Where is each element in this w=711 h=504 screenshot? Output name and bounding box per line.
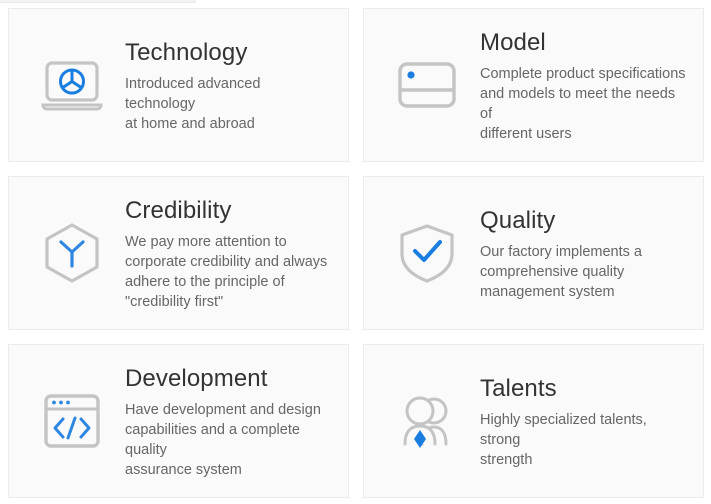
card-title: Technology bbox=[125, 38, 332, 68]
feature-card-quality[interactable]: Quality Our factory implements a compreh… bbox=[363, 176, 704, 330]
card-text-block: Talents Highly specialized talents, stro… bbox=[480, 372, 687, 470]
card-text-block: Quality Our factory implements a compreh… bbox=[480, 204, 687, 302]
card-description: Highly specialized talents, strong stren… bbox=[480, 410, 687, 470]
feature-card-development[interactable]: Development Have development and design … bbox=[8, 344, 349, 498]
hexagon-credibility-icon bbox=[31, 212, 113, 294]
card-text-block: Development Have development and design … bbox=[125, 362, 332, 480]
card-text-block: Model Complete product specifications an… bbox=[480, 26, 687, 144]
shield-check-quality-icon bbox=[386, 212, 468, 294]
card-title: Development bbox=[125, 364, 332, 394]
card-title: Quality bbox=[480, 206, 687, 236]
code-window-development-icon bbox=[31, 380, 113, 462]
card-description: We pay more attention to corporate credi… bbox=[125, 232, 332, 312]
feature-cards-page: Technology Introduced advanced technolog… bbox=[0, 0, 711, 504]
product-model-icon bbox=[386, 44, 468, 126]
card-description: Our factory implements a comprehensive q… bbox=[480, 242, 687, 302]
laptop-technology-icon bbox=[31, 44, 113, 126]
feature-card-talents[interactable]: Talents Highly specialized talents, stro… bbox=[363, 344, 704, 498]
feature-card-credibility[interactable]: Credibility We pay more attention to cor… bbox=[8, 176, 349, 330]
card-title: Model bbox=[480, 28, 687, 58]
people-talents-icon bbox=[386, 380, 468, 462]
card-description: Complete product specifications and mode… bbox=[480, 64, 687, 144]
card-text-block: Credibility We pay more attention to cor… bbox=[125, 194, 332, 312]
card-text-block: Technology Introduced advanced technolog… bbox=[125, 36, 332, 134]
card-description: Introduced advanced technology at home a… bbox=[125, 74, 332, 134]
top-divider-strip bbox=[0, 0, 196, 3]
card-description: Have development and design capabilities… bbox=[125, 400, 332, 480]
feature-card-model[interactable]: Model Complete product specifications an… bbox=[363, 8, 704, 162]
card-title: Talents bbox=[480, 374, 687, 404]
card-title: Credibility bbox=[125, 196, 332, 226]
feature-card-technology[interactable]: Technology Introduced advanced technolog… bbox=[8, 8, 349, 162]
feature-card-grid: Technology Introduced advanced technolog… bbox=[8, 8, 711, 498]
